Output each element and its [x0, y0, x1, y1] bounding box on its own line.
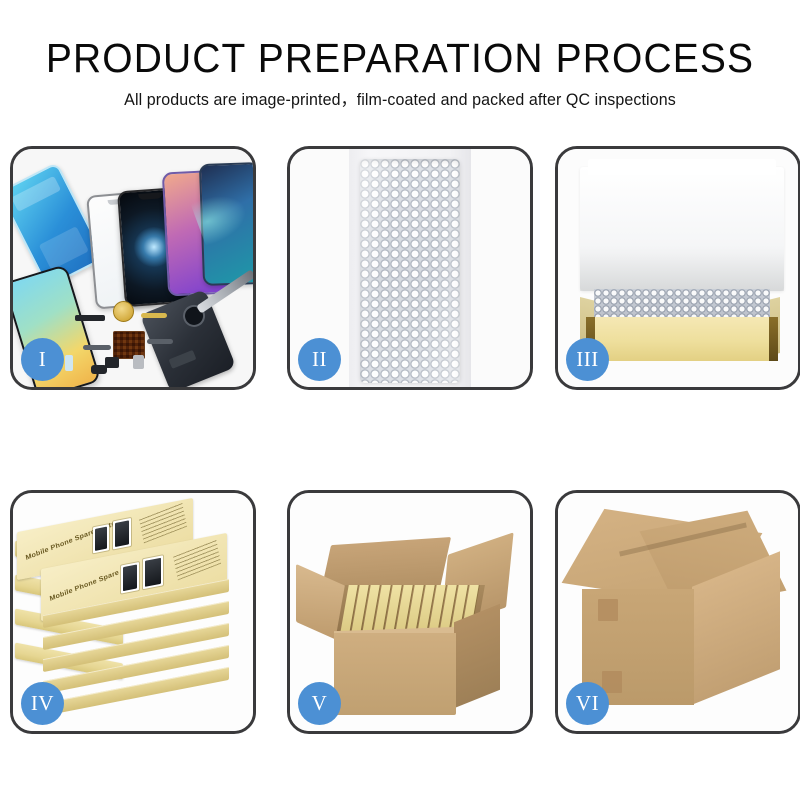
step-badge-4: IV: [21, 682, 64, 725]
bubble-wrapped-contents-icon: [594, 289, 770, 319]
carton-front-panel: [334, 633, 456, 715]
camera-part-icon: [105, 357, 119, 368]
speaker-part-icon: [113, 301, 134, 322]
antenna-part-icon: [75, 315, 105, 321]
small-part-icon: [65, 355, 73, 371]
inner-box-front-icon: [586, 317, 778, 361]
step-badge-5: V: [298, 682, 341, 725]
flex-cable-part-icon: [141, 313, 167, 318]
page-subtitle: All products are image-printed，film-coat…: [12, 89, 788, 111]
gray-flex-part-icon: [147, 339, 173, 344]
process-grid: I II III: [10, 146, 790, 734]
carton-tape-upper: [598, 599, 618, 621]
step-badge-6: VI: [566, 682, 609, 725]
step-panel-3: III: [555, 146, 800, 390]
step-badge-2: II: [298, 338, 341, 381]
infographic-page: PRODUCT PREPARATION PROCESS All products…: [0, 0, 800, 800]
step-panel-6: VI: [555, 490, 800, 734]
step-panel-2: II: [287, 146, 533, 390]
gray-flex-part-icon: [83, 345, 111, 350]
step-panel-1: I: [10, 146, 256, 390]
teal-phone-icon: [199, 162, 253, 286]
step-panel-4: Mobile Phone Spare Parts Mobile Phone Sp…: [10, 490, 256, 734]
button-part-icon: [91, 365, 107, 374]
step-panel-5: V: [287, 490, 533, 734]
battery-part-icon: [133, 355, 144, 369]
carton-tape-lower: [602, 671, 622, 693]
step-badge-1: I: [21, 338, 64, 381]
header: PRODUCT PREPARATION PROCESS All products…: [0, 34, 800, 111]
step-badge-3: III: [566, 338, 609, 381]
page-title: PRODUCT PREPARATION PROCESS: [20, 34, 780, 82]
